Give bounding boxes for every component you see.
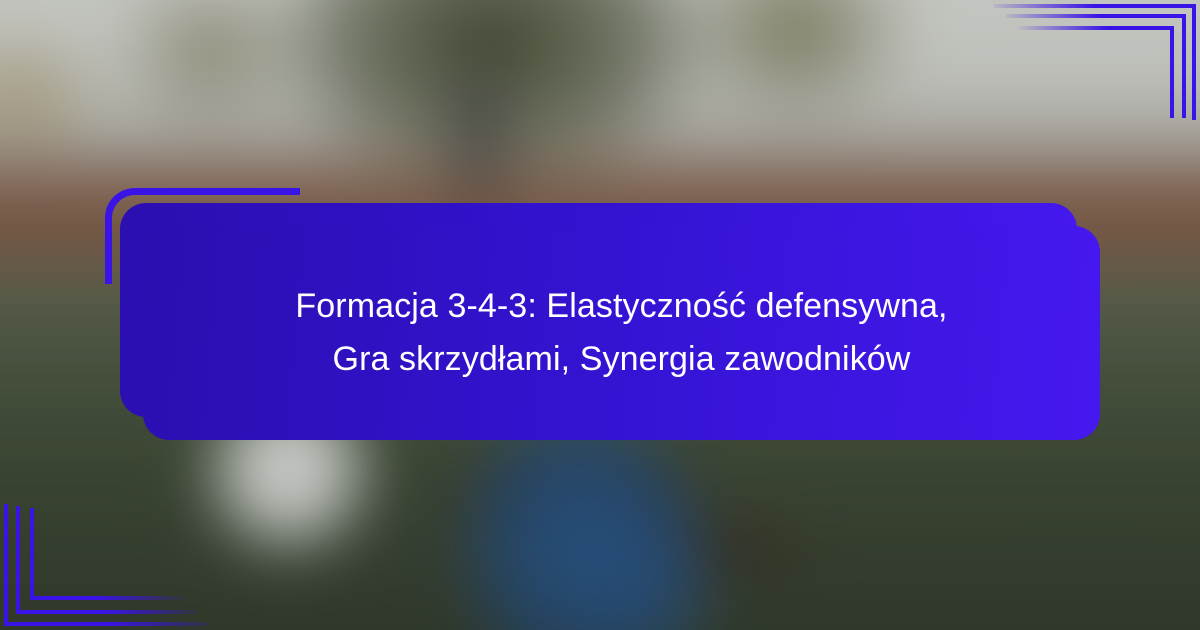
headline-line-2: Gra skrzydłami, Synergia zawodników	[333, 333, 911, 386]
social-card-canvas: Formacja 3-4-3: Elastyczność defensywna,…	[0, 0, 1200, 630]
banner-text-container: Formacja 3-4-3: Elastyczność defensywna,…	[143, 226, 1100, 440]
headline-line-1: Formacja 3-4-3: Elastyczność defensywna,	[295, 280, 947, 333]
